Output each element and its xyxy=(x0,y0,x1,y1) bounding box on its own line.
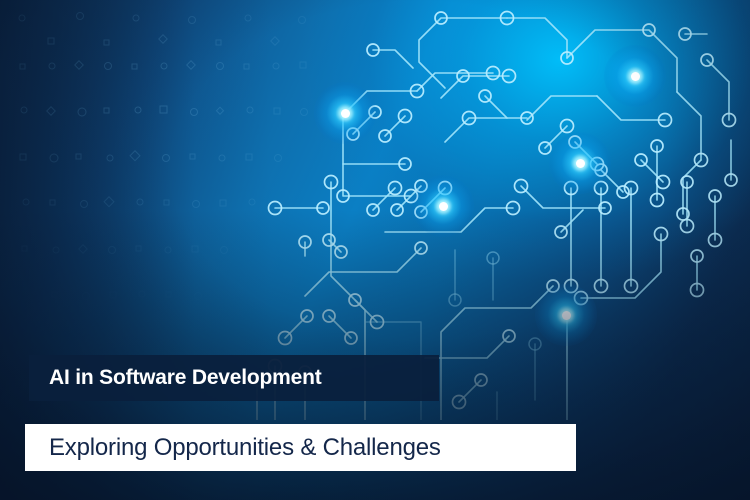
ai-banner: AI in Software Development Exploring Opp… xyxy=(0,0,750,500)
subtitle-bar: Exploring Opportunities & Challenges xyxy=(25,424,576,471)
title-bar: AI in Software Development xyxy=(29,355,439,401)
page-subtitle: Exploring Opportunities & Challenges xyxy=(49,434,441,462)
page-title: AI in Software Development xyxy=(49,366,322,390)
